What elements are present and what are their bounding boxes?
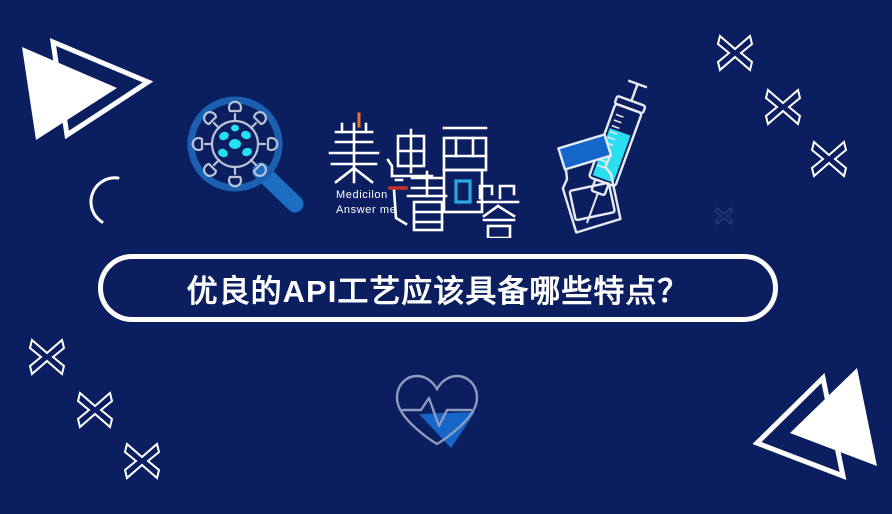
cross-icon-l1 [24,334,70,380]
logo: Medicilon Answer me [326,112,522,238]
cross-icon-r1 [712,30,758,76]
banner-root: Medicilon Answer me 优良的API工艺应该具备哪些特点？ [0,0,892,514]
triangle-pair-bottom-right [745,363,892,498]
headline-pill: 优良的API工艺应该具备哪些特点？ [98,254,778,322]
cross-icon-l2 [72,387,118,433]
logo-latin-text: Medicilon Answer me [334,188,396,218]
virus-magnifier-icon [183,92,313,220]
cross-icon-faint [713,205,735,227]
logo-latin-line1: Medicilon [334,188,396,203]
arc-decoration [84,172,124,228]
syringe-vial-icon [543,76,671,236]
cross-icon-l3 [119,438,165,484]
logo-latin-line2: Answer me [334,203,396,218]
heart-chevron-icon [383,368,491,450]
cross-icon-r3 [806,136,852,182]
triangle-pair-top-left [10,22,160,147]
cross-icon-r2 [760,84,806,130]
headline-text: 优良的API工艺应该具备哪些特点？ [187,266,690,311]
